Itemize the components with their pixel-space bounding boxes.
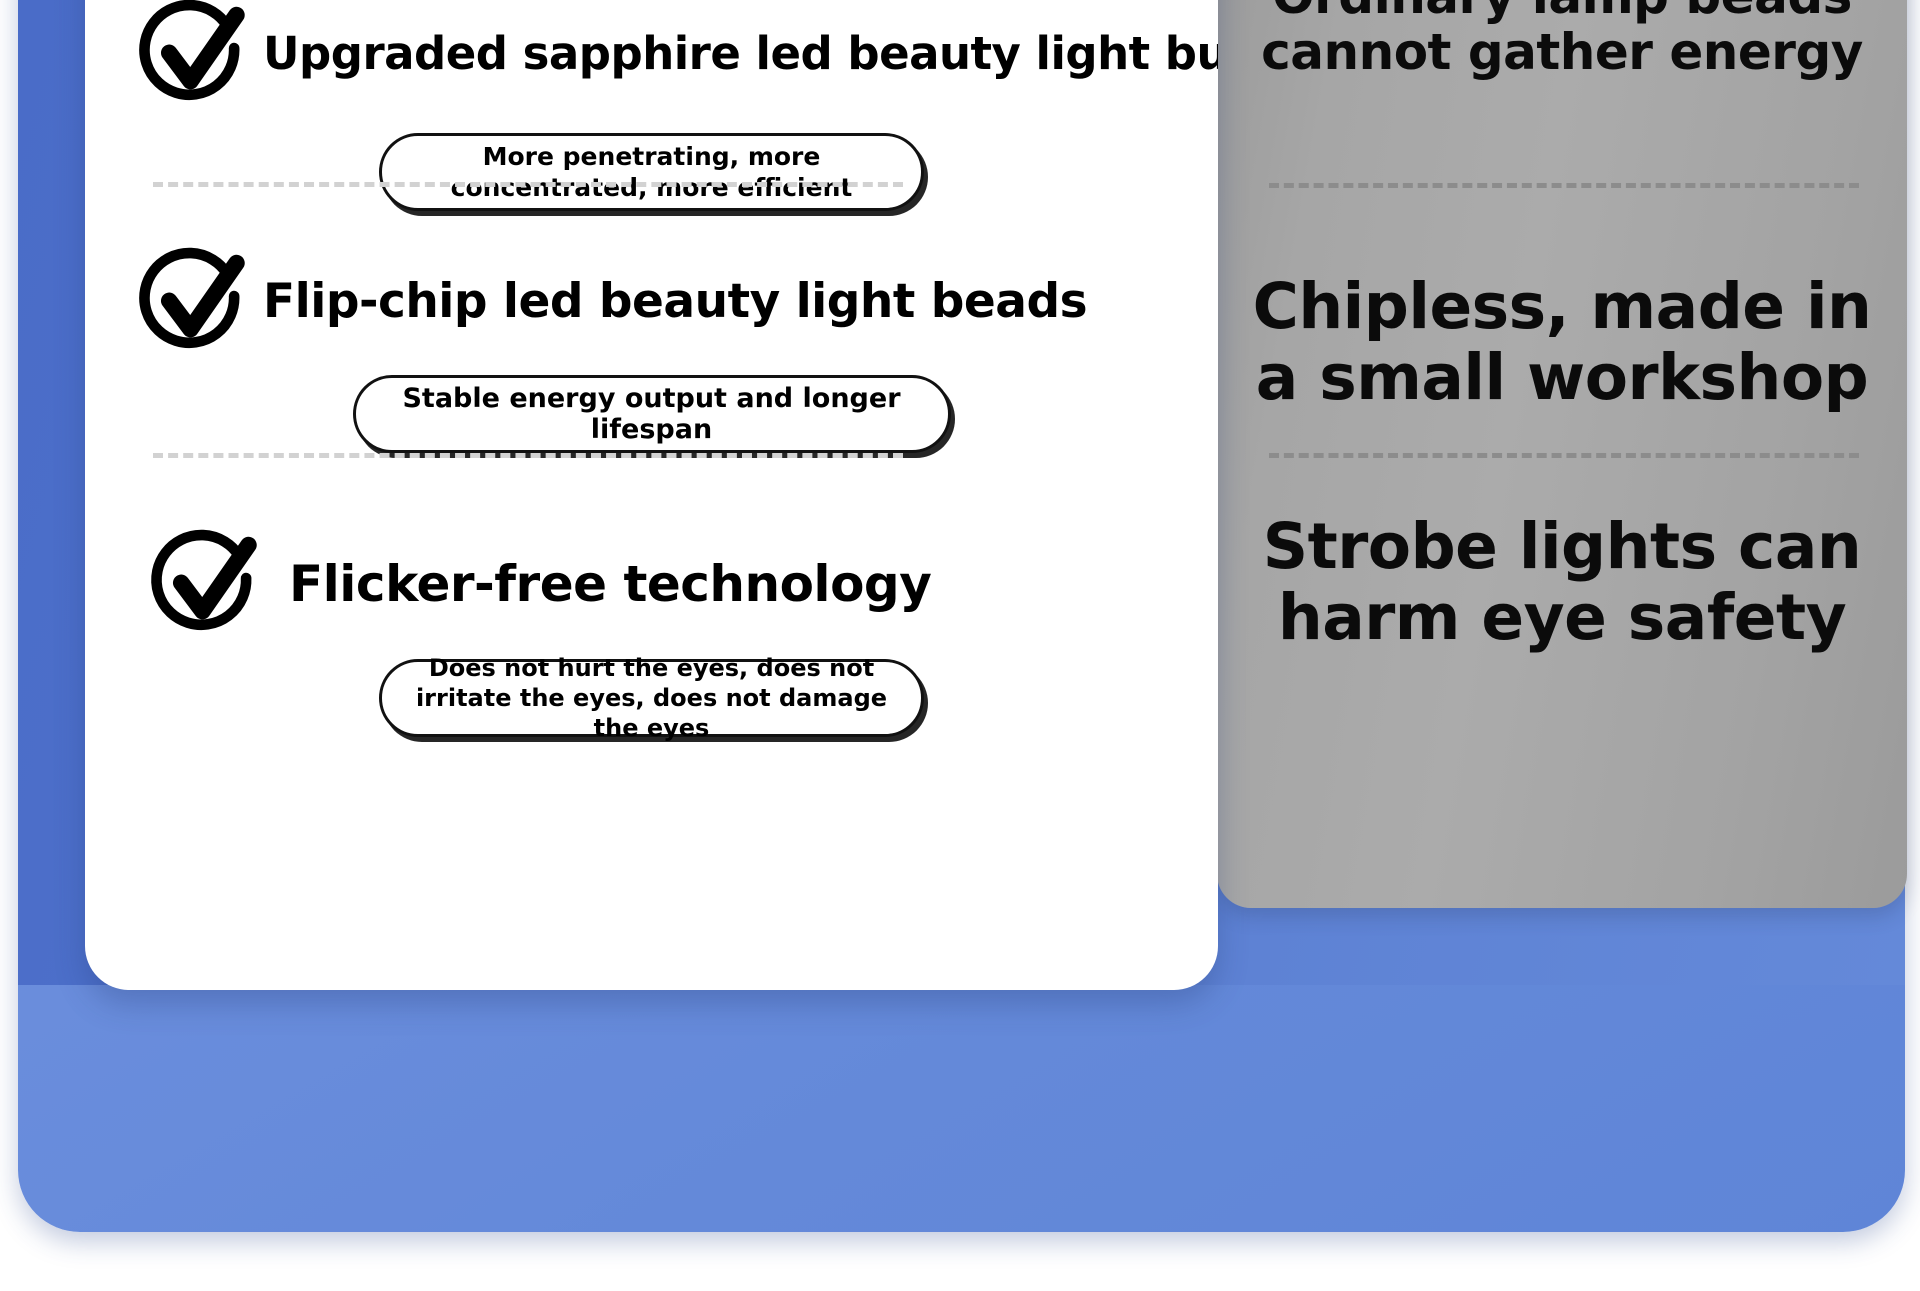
feature-1-header: Upgraded sapphire led beauty light bulbs bbox=[85, 0, 1218, 113]
feature-separator-2 bbox=[153, 453, 903, 458]
feature-2-detail-pill: Stable energy output and longer lifespan bbox=[353, 375, 951, 453]
feature-2-header: Flip-chip led beauty light beads bbox=[85, 243, 1218, 361]
drawback-separator-1 bbox=[1269, 183, 1859, 188]
feature-row-3: Flicker-free technology Does not hurt th… bbox=[85, 525, 1218, 737]
check-circle-icon bbox=[147, 525, 265, 643]
feature-separator-1 bbox=[153, 182, 903, 187]
drawback-item-1: Ordinary lamp beads cannot gather energy bbox=[1217, 0, 1907, 80]
drawback-item-3: Strobe lights can harm eye safety bbox=[1217, 512, 1907, 653]
check-circle-icon bbox=[135, 0, 253, 113]
feature-1-title: Upgraded sapphire led beauty light bulbs bbox=[263, 30, 1218, 77]
feature-1-detail-pill: More penetrating, more concentrated, mor… bbox=[379, 133, 924, 211]
feature-3-header: Flicker-free technology bbox=[85, 525, 1218, 643]
feature-3-title: Flicker-free technology bbox=[289, 558, 931, 611]
drawback-separator-2 bbox=[1269, 453, 1859, 458]
feature-row-1: Upgraded sapphire led beauty light bulbs… bbox=[85, 0, 1218, 211]
drawback-item-2: Chipless, made in a small workshop bbox=[1217, 272, 1907, 413]
feature-3-detail-pill: Does not hurt the eyes, does not irritat… bbox=[379, 659, 924, 737]
feature-2-title: Flip-chip led beauty light beads bbox=[263, 277, 1087, 326]
feature-row-2: Flip-chip led beauty light beads Stable … bbox=[85, 243, 1218, 453]
advantages-card: Upgraded sapphire led beauty light bulbs… bbox=[85, 0, 1218, 990]
drawbacks-panel: Ordinary lamp beads cannot gather energy… bbox=[1217, 0, 1907, 908]
check-circle-icon bbox=[135, 243, 253, 361]
